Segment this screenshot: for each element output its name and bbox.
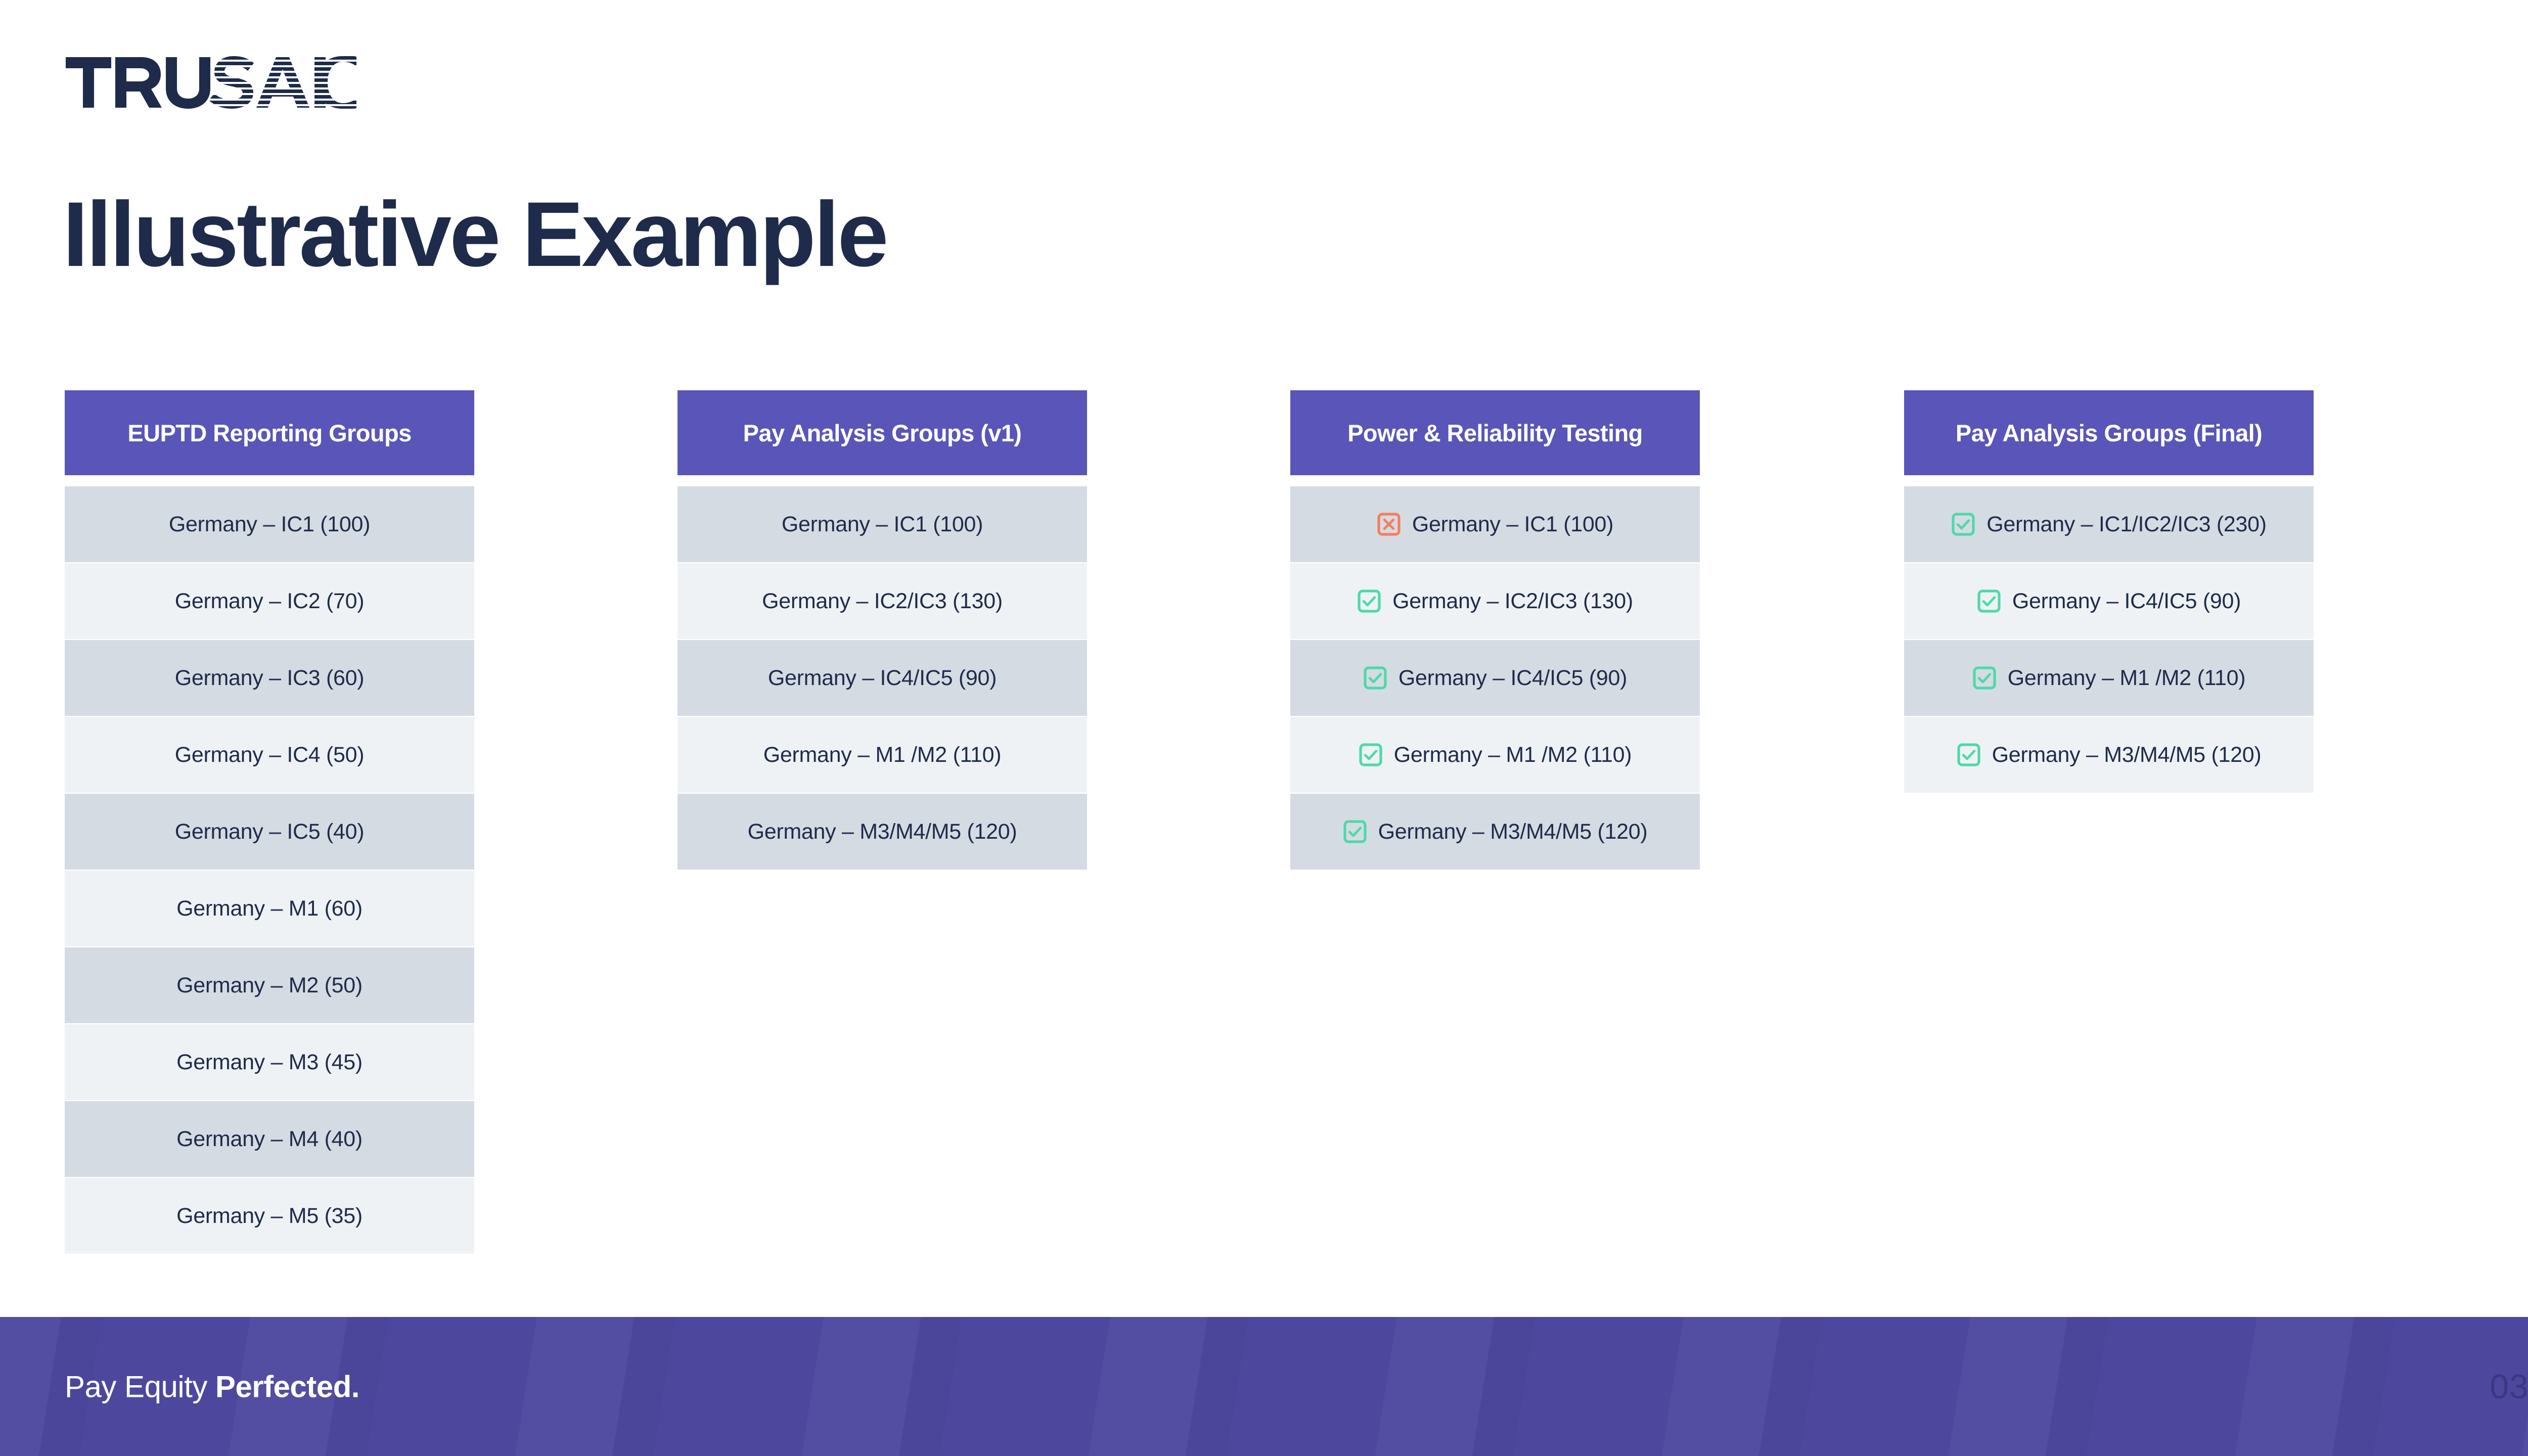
row-content: Germany – M2 (50) — [176, 973, 363, 998]
logo-tru-solid — [66, 57, 210, 109]
row-content: Germany – M1 (60) — [176, 896, 363, 921]
table-row: Germany – M5 (35) — [65, 1178, 474, 1254]
row-content: Germany – IC3 (60) — [175, 666, 365, 691]
row-label: Germany – M5 (35) — [176, 1204, 363, 1228]
check-icon — [1357, 589, 1381, 613]
check-icon — [1343, 820, 1367, 844]
table-row: Germany – IC4/IC5 (90) — [1290, 640, 1700, 716]
check-icon — [1957, 743, 1981, 767]
row-label: Germany – M1 (60) — [176, 896, 363, 921]
column-2: Power & Reliability TestingGermany – IC1… — [1290, 390, 1700, 871]
table-row: Germany – IC1 (100) — [65, 486, 474, 562]
row-label: Germany – M1 /M2 (110) — [1394, 743, 1632, 767]
row-label: Germany – IC4/IC5 (90) — [2012, 589, 2241, 614]
row-content: Germany – M3 (45) — [176, 1050, 363, 1075]
row-content: Germany – IC2/IC3 (130) — [762, 589, 1003, 614]
row-label: Germany – IC1 (100) — [1412, 512, 1613, 537]
page-number: 03 — [2490, 1367, 2528, 1406]
column-header: EUPTD Reporting Groups — [65, 390, 474, 475]
table-row: Germany – M2 (50) — [65, 947, 474, 1023]
row-content: Germany – IC4/IC5 (90) — [768, 666, 997, 691]
row-content: Germany – M1 /M2 (110) — [763, 743, 1002, 767]
row-content: Germany – IC1 (100) — [782, 512, 983, 537]
column-header: Power & Reliability Testing — [1290, 390, 1700, 475]
footer-bar: Pay Equity Perfected. 03 — [0, 1317, 2528, 1456]
trusaic-logo — [65, 55, 368, 110]
page-title: Illustrative Example — [63, 186, 887, 283]
row-label: Germany – M2 (50) — [176, 973, 363, 998]
row-content: Germany – M3/M4/M5 (120) — [1343, 820, 1648, 844]
tagline-bold: Perfected. — [215, 1369, 359, 1404]
column-rows: Germany – IC1/IC2/IC3 (230)Germany – IC4… — [1904, 486, 2314, 793]
row-content: Germany – IC4/IC5 (90) — [1363, 666, 1627, 691]
row-content: Germany – M5 (35) — [176, 1204, 363, 1228]
table-row: Germany – IC4/IC5 (90) — [678, 640, 1087, 716]
row-content: Germany – IC1 (100) — [1377, 512, 1613, 537]
table-row: Germany – M3/M4/M5 (120) — [1290, 794, 1700, 870]
row-label: Germany – IC5 (40) — [175, 820, 365, 844]
table-row: Germany – IC1/IC2/IC3 (230) — [1904, 486, 2314, 562]
table-row: Germany – IC2/IC3 (130) — [1290, 563, 1700, 639]
column-header: Pay Analysis Groups (v1) — [678, 390, 1087, 475]
row-content: Germany – IC2/IC3 (130) — [1357, 589, 1633, 614]
cross-icon — [1377, 512, 1401, 536]
table-row: Germany – IC4/IC5 (90) — [1904, 563, 2314, 639]
row-content: Germany – M3/M4/M5 (120) — [748, 820, 1017, 844]
column-1: Pay Analysis Groups (v1)Germany – IC1 (1… — [678, 390, 1087, 871]
row-content: Germany – IC4/IC5 (90) — [1977, 589, 2241, 614]
column-3: Pay Analysis Groups (Final)Germany – IC1… — [1904, 390, 2314, 794]
row-label: Germany – IC1 (100) — [782, 512, 983, 537]
table-row: Germany – IC4 (50) — [65, 717, 474, 793]
table-row: Germany – IC1 (100) — [678, 486, 1087, 562]
table-row: Germany – M1 /M2 (110) — [1904, 640, 2314, 716]
row-label: Germany – IC1 (100) — [169, 512, 370, 537]
row-label: Germany – IC3 (60) — [175, 666, 365, 691]
row-label: Germany – IC2/IC3 (130) — [762, 589, 1003, 614]
row-label: Germany – M3/M4/M5 (120) — [1378, 820, 1648, 844]
table-row: Germany – M1 /M2 (110) — [678, 717, 1087, 793]
check-icon — [1359, 743, 1383, 767]
row-label: Germany – M3/M4/M5 (120) — [748, 820, 1017, 844]
table-row: Germany – IC2/IC3 (130) — [678, 563, 1087, 639]
row-label: Germany – M3/M4/M5 (120) — [1992, 743, 2262, 767]
check-icon — [1972, 666, 1997, 690]
footer-diagonal-texture — [0, 1317, 2528, 1456]
row-label: Germany – IC4/IC5 (90) — [1398, 666, 1627, 691]
row-content: Germany – IC4 (50) — [175, 743, 365, 767]
row-content: Germany – M1 /M2 (110) — [1972, 666, 2246, 691]
row-label: Germany – IC4/IC5 (90) — [768, 666, 997, 691]
row-content: Germany – IC2 (70) — [175, 589, 365, 614]
row-content: Germany – IC1/IC2/IC3 (230) — [1951, 512, 2267, 537]
row-label: Germany – M3 (45) — [176, 1050, 363, 1075]
table-row: Germany – M1 /M2 (110) — [1290, 717, 1700, 793]
row-content: Germany – M1 /M2 (110) — [1359, 743, 1632, 767]
table-row: Germany – M3 (45) — [65, 1024, 474, 1100]
row-content: Germany – M3/M4/M5 (120) — [1957, 743, 2262, 767]
column-header: Pay Analysis Groups (Final) — [1904, 390, 2314, 475]
table-row: Germany – IC5 (40) — [65, 794, 474, 870]
row-label: Germany – IC1/IC2/IC3 (230) — [1987, 512, 2267, 537]
column-rows: Germany – IC1 (100)Germany – IC2 (70)Ger… — [65, 486, 474, 1254]
row-label: Germany – M1 /M2 (110) — [2008, 666, 2246, 691]
row-content: Germany – IC5 (40) — [175, 820, 365, 844]
row-label: Germany – M4 (40) — [176, 1127, 363, 1152]
table-row: Germany – M3/M4/M5 (120) — [1904, 717, 2314, 793]
table-row: Germany – M4 (40) — [65, 1101, 474, 1177]
column-rows: Germany – IC1 (100)Germany – IC2/IC3 (13… — [1290, 486, 1700, 870]
row-label: Germany – M1 /M2 (110) — [763, 743, 1002, 767]
logo-saic-striped — [209, 56, 356, 109]
check-icon — [1363, 666, 1387, 690]
row-label: Germany – IC2 (70) — [175, 589, 365, 614]
footer-tagline: Pay Equity Perfected. — [65, 1369, 359, 1404]
check-icon — [1951, 512, 1975, 536]
table-row: Germany – M3/M4/M5 (120) — [678, 794, 1087, 870]
row-content: Germany – M4 (40) — [176, 1127, 363, 1152]
table-row: Germany – M1 (60) — [65, 871, 474, 946]
tagline-light: Pay Equity — [65, 1369, 207, 1404]
row-label: Germany – IC4 (50) — [175, 743, 365, 767]
table-row: Germany – IC3 (60) — [65, 640, 474, 716]
row-label: Germany – IC2/IC3 (130) — [1392, 589, 1633, 614]
check-icon — [1977, 589, 2001, 613]
table-row: Germany – IC2 (70) — [65, 563, 474, 639]
column-0: EUPTD Reporting GroupsGermany – IC1 (100… — [65, 390, 474, 1255]
table-row: Germany – IC1 (100) — [1290, 486, 1700, 562]
column-rows: Germany – IC1 (100)Germany – IC2/IC3 (13… — [678, 486, 1087, 870]
row-content: Germany – IC1 (100) — [169, 512, 370, 537]
